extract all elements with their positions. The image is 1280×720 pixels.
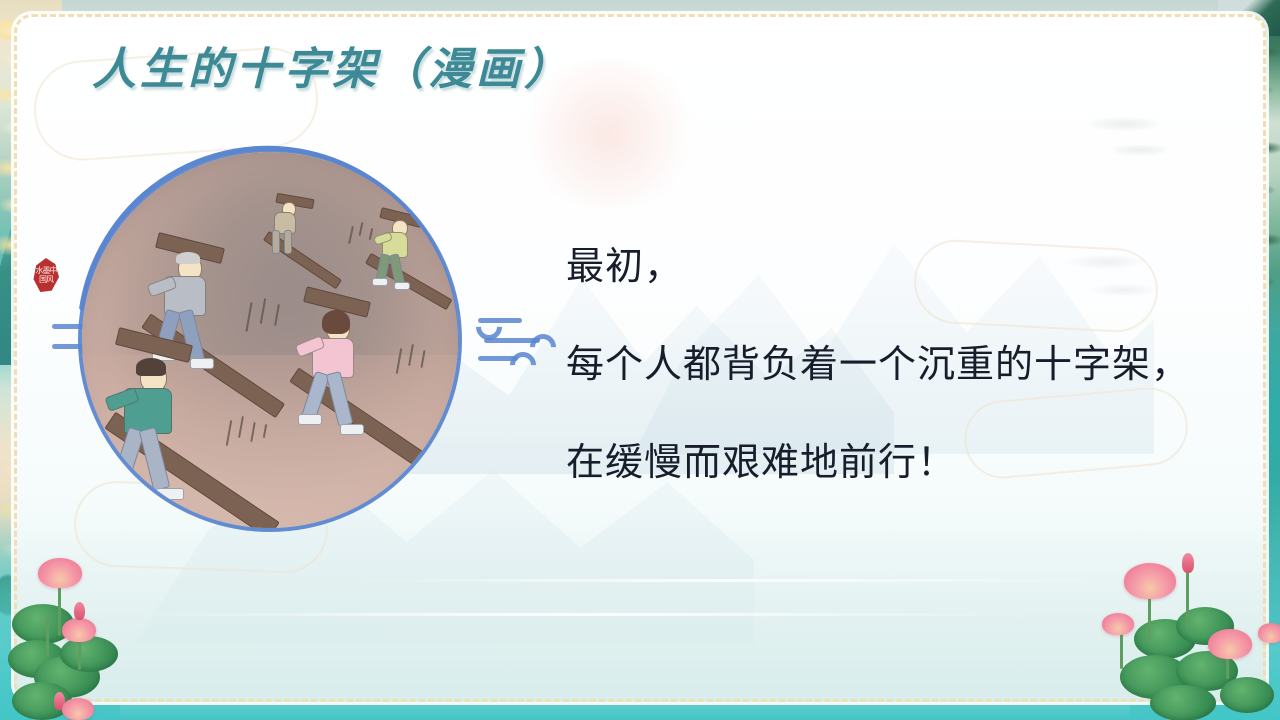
figure-distant-right bbox=[370, 208, 450, 292]
figure-foreground-left bbox=[104, 342, 274, 512]
lotus-cluster-right bbox=[1090, 545, 1280, 720]
wave-ornament-right bbox=[470, 306, 544, 376]
lotus-cluster-left bbox=[8, 540, 188, 720]
wave-line-1 bbox=[134, 613, 1034, 616]
body-line-2: 每个人都背负着一个沉重的十字架， bbox=[566, 346, 1256, 384]
figure-right-woman bbox=[294, 300, 444, 450]
body-line-3: 在缓慢而艰难地前行！ bbox=[566, 444, 1256, 482]
cross-bearers-image bbox=[82, 152, 458, 528]
wave-line-2 bbox=[344, 579, 1104, 582]
bottom-water-band bbox=[0, 702, 1280, 720]
page-title: 人生的十字架（漫画） bbox=[92, 48, 572, 92]
pine-watermark-1 bbox=[1064, 104, 1204, 174]
body-text: 最初， 每个人都背负着一个沉重的十字架， 在缓慢而艰难地前行！ bbox=[566, 248, 1256, 482]
slide: 水墨中国风 人生的十字架（漫画） bbox=[0, 0, 1280, 720]
body-line-1: 最初， bbox=[566, 248, 1256, 286]
illustration-circle bbox=[60, 130, 480, 550]
